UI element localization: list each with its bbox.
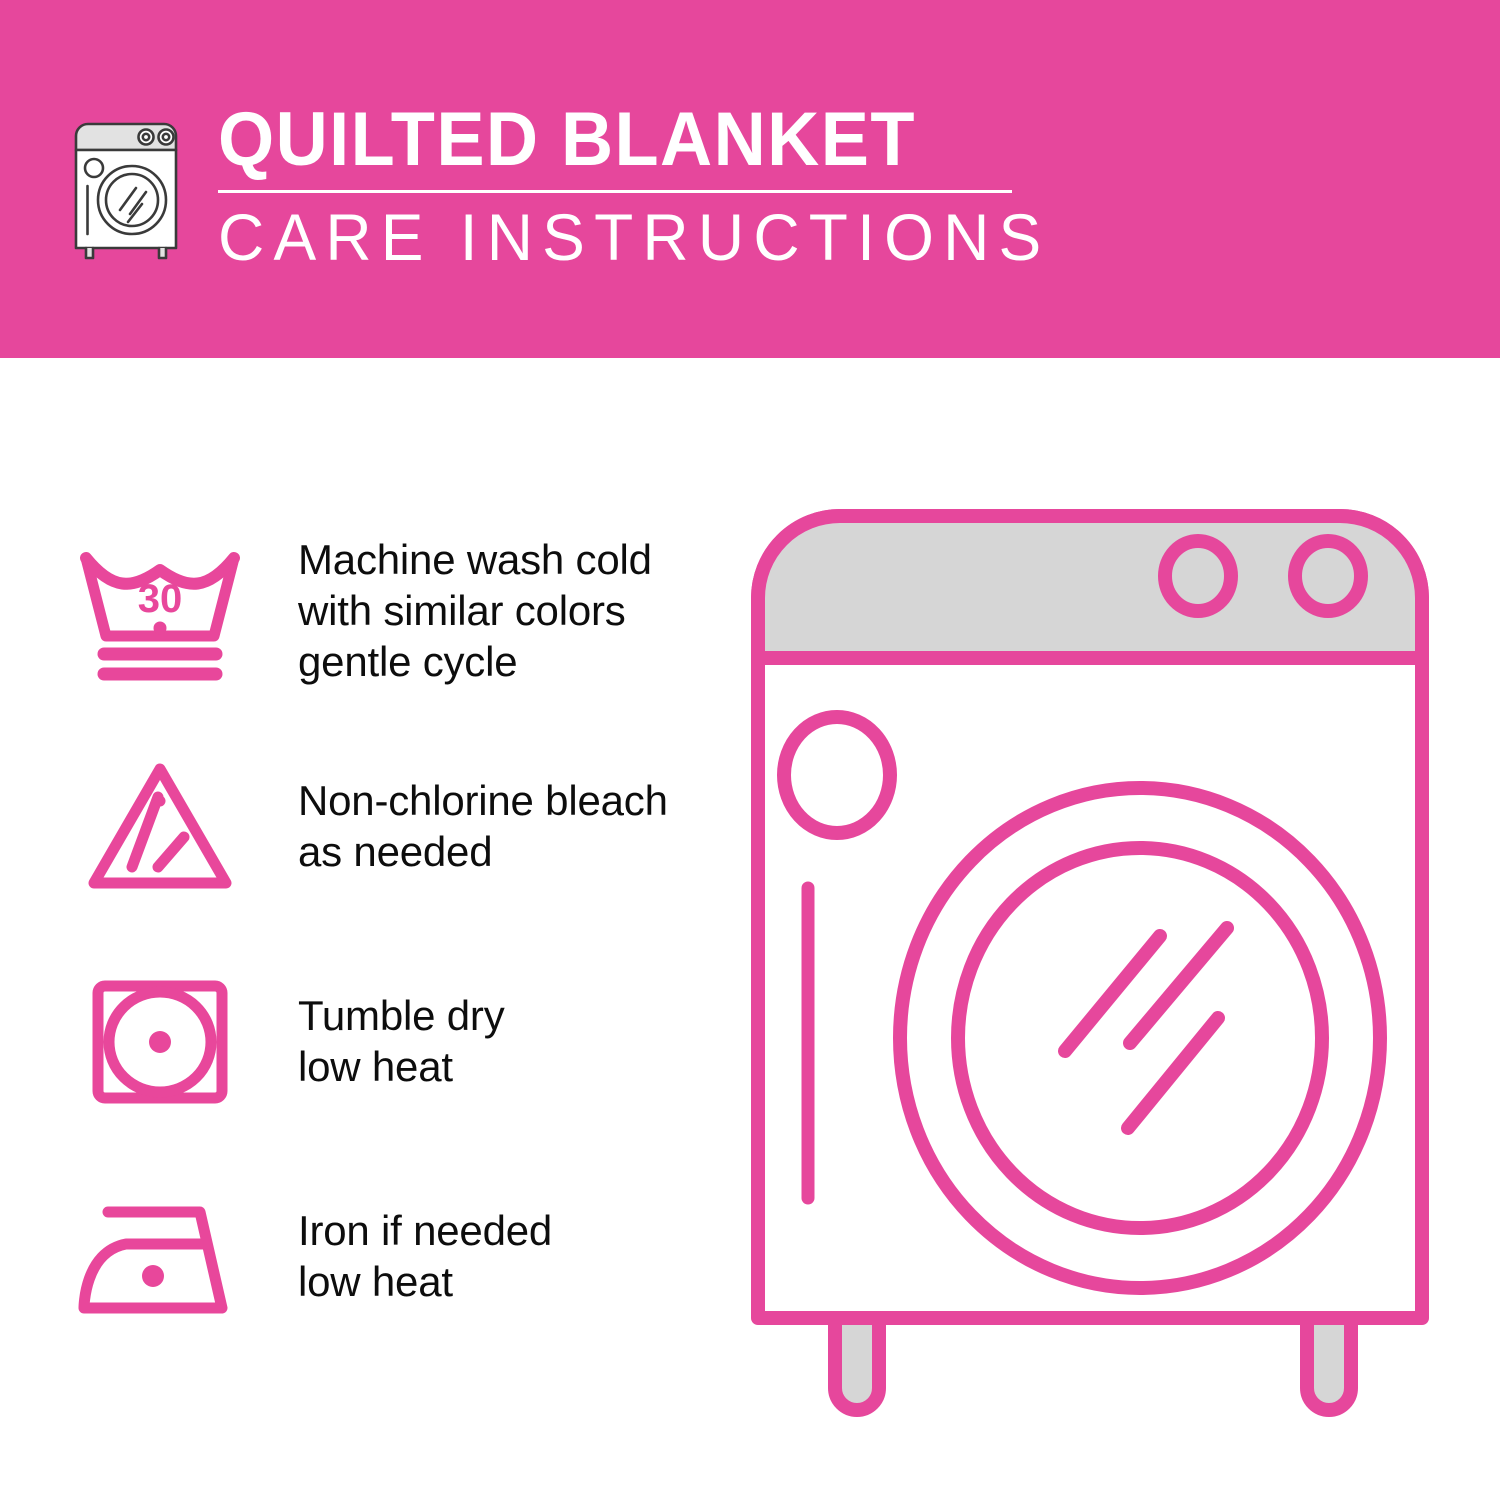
machine-knob	[1295, 541, 1361, 611]
care-symbol: 30	[60, 540, 260, 682]
care-instruction-list: 30 Machine wash cold with similar colors…	[60, 503, 700, 1363]
bleach-triangle-non-chlorine-icon	[76, 755, 244, 897]
care-row: Tumble dry low heat	[60, 933, 700, 1148]
care-text: Machine wash cold with similar colors ge…	[260, 534, 652, 687]
content-area: 30 Machine wash cold with similar colors…	[0, 358, 1500, 1500]
care-text-line: Tumble dry	[298, 990, 505, 1041]
tumble-dry-low-heat-icon	[86, 970, 234, 1112]
title-divider	[218, 190, 1012, 193]
care-row: Iron if needed low heat	[60, 1148, 700, 1363]
care-symbol	[60, 970, 260, 1112]
care-text: Iron if needed low heat	[260, 1205, 552, 1307]
washing-machine-icon	[62, 110, 190, 262]
page-title: QUILTED BLANKET	[218, 100, 1033, 180]
machine-knob	[1165, 541, 1231, 611]
care-text-line: with similar colors	[298, 585, 652, 636]
care-row: 30 Machine wash cold with similar colors…	[60, 503, 700, 718]
care-text-line: low heat	[298, 1041, 505, 1092]
machine-leg	[1307, 1318, 1351, 1410]
header-banner: QUILTED BLANKET CARE INSTRUCTIONS	[0, 0, 1500, 358]
care-text-line: Iron if needed	[298, 1205, 552, 1256]
header-titles: QUILTED BLANKET CARE INSTRUCTIONS	[218, 100, 1076, 272]
care-text-line: low heat	[298, 1256, 552, 1307]
care-text-line: Non-chlorine bleach	[298, 775, 668, 826]
wash-temperature-label: 30	[138, 577, 183, 621]
care-text: Non-chlorine bleach as needed	[260, 775, 668, 877]
iron-low-heat-icon	[70, 1190, 250, 1322]
care-row: Non-chlorine bleach as needed	[60, 718, 700, 933]
care-text: Tumble dry low heat	[260, 990, 505, 1092]
washing-machine-illustration	[740, 498, 1440, 1448]
care-text-line: as needed	[298, 826, 668, 877]
page-subtitle: CARE INSTRUCTIONS	[218, 202, 1050, 272]
care-text-line: Machine wash cold	[298, 534, 652, 585]
header-content: QUILTED BLANKET CARE INSTRUCTIONS	[62, 100, 1076, 272]
care-symbol	[60, 1190, 260, 1322]
wash-tub-30-gentle-icon: 30	[76, 540, 244, 682]
washing-machine-graphic	[740, 498, 1440, 1448]
care-text-line: gentle cycle	[298, 636, 652, 687]
care-symbol	[60, 755, 260, 897]
machine-leg	[835, 1318, 879, 1410]
machine-dial	[784, 717, 890, 833]
